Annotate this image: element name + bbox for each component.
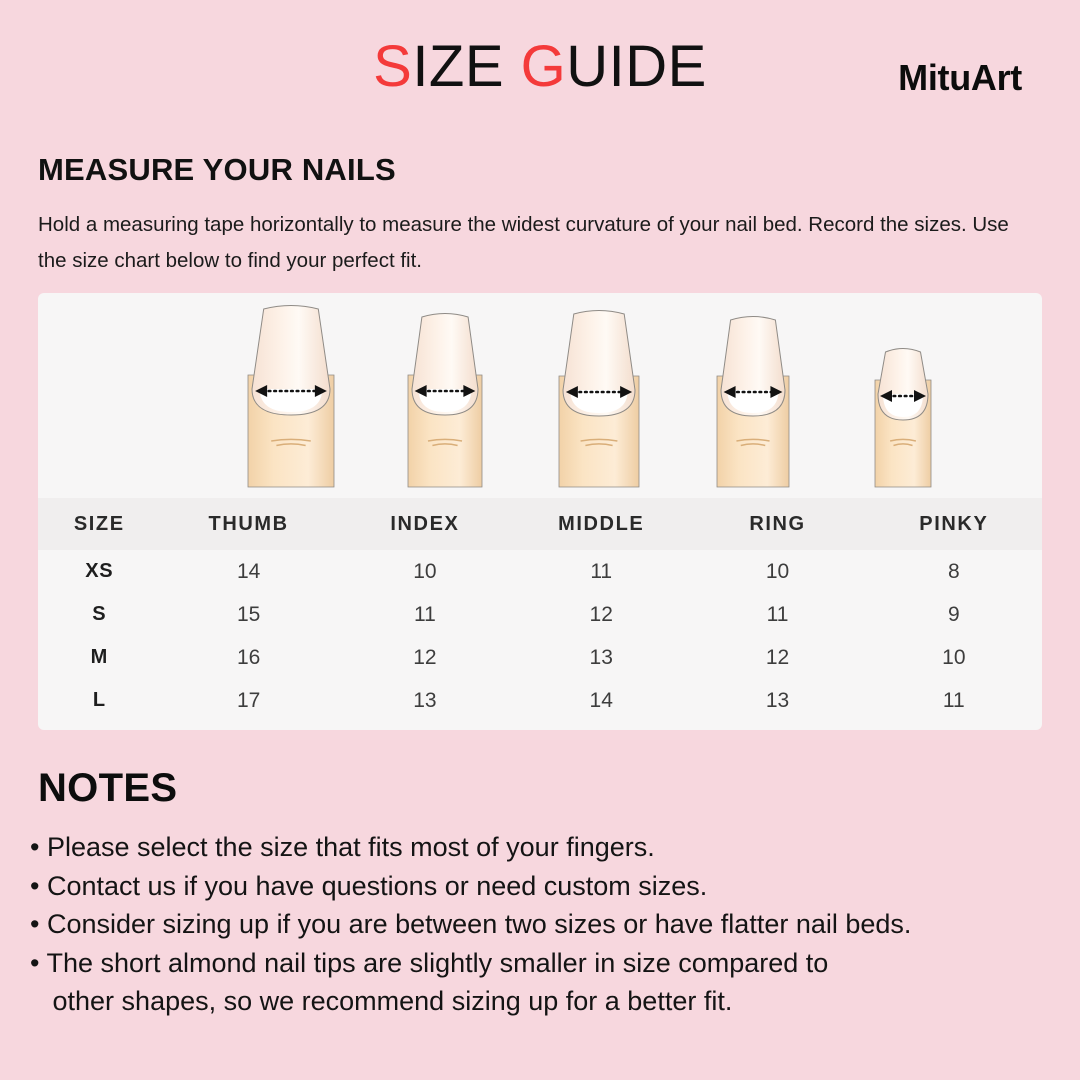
notes-list: • Please select the size that fits most … — [30, 828, 1070, 1021]
size-chart-card: SIZETHUMBINDEXMIDDLERINGPINKY XS14101110… — [38, 293, 1042, 730]
measurement-cell: 10 — [337, 550, 513, 593]
table-column-header-middle: MIDDLE — [513, 498, 689, 550]
measurement-cell: 15 — [160, 593, 336, 636]
table-header-row: SIZETHUMBINDEXMIDDLERINGPINKY — [38, 498, 1042, 550]
thumb-nail-illustration — [241, 293, 341, 498]
measurement-cell: 12 — [689, 636, 865, 679]
note-item: • Contact us if you have questions or ne… — [30, 867, 1070, 906]
index-nail-illustration — [401, 293, 489, 498]
measurement-cell: 10 — [689, 550, 865, 593]
measurement-cell: 13 — [689, 679, 865, 722]
measure-section-heading: MEASURE YOUR NAILS — [38, 152, 396, 188]
table-row: L1713141311 — [38, 679, 1042, 722]
size-label-cell: S — [38, 593, 160, 636]
notes-heading: NOTES — [38, 766, 177, 811]
measurement-cell: 13 — [337, 679, 513, 722]
measurement-cell: 16 — [160, 636, 336, 679]
table-column-header-pinky: PINKY — [866, 498, 1042, 550]
size-label-cell: M — [38, 636, 160, 679]
table-body: XS141011108S151112119M1612131210L1713141… — [38, 550, 1042, 722]
size-label-cell: XS — [38, 550, 160, 593]
measurement-cell: 14 — [513, 679, 689, 722]
table-header: SIZETHUMBINDEXMIDDLERINGPINKY — [38, 498, 1042, 550]
page-header: SIZE GUIDE MituArt — [0, 0, 1080, 128]
size-label-cell: L — [38, 679, 160, 722]
table-row: XS141011108 — [38, 550, 1042, 593]
note-item: • Please select the size that fits most … — [30, 828, 1070, 867]
pinky-nail-illustration — [868, 293, 938, 498]
measurement-cell: 12 — [337, 636, 513, 679]
measurement-cell: 9 — [866, 593, 1042, 636]
measurement-cell: 13 — [513, 636, 689, 679]
title-letters: IZE — [412, 34, 520, 99]
measurement-cell: 14 — [160, 550, 336, 593]
measurement-cell: 11 — [866, 679, 1042, 722]
measure-section-paragraph: Hold a measuring tape horizontally to me… — [38, 207, 1038, 279]
table-column-header-thumb: THUMB — [160, 498, 336, 550]
title-accent-letter: G — [521, 34, 567, 99]
table-row: S151112119 — [38, 593, 1042, 636]
brand-logo: MituArt — [898, 57, 1022, 99]
table-column-header-index: INDEX — [337, 498, 513, 550]
note-item: other shapes, so we recommend sizing up … — [30, 982, 1070, 1021]
measurement-cell: 11 — [337, 593, 513, 636]
note-item: • Consider sizing up if you are between … — [30, 905, 1070, 944]
measurement-cell: 17 — [160, 679, 336, 722]
ring-nail-illustration — [710, 293, 796, 498]
note-item: • The short almond nail tips are slightl… — [30, 944, 1070, 983]
table-column-header-ring: RING — [689, 498, 865, 550]
measurement-cell: 10 — [866, 636, 1042, 679]
title-accent-letter: S — [373, 34, 412, 99]
measurement-cell: 11 — [513, 550, 689, 593]
size-chart-table: SIZETHUMBINDEXMIDDLERINGPINKY XS14101110… — [38, 498, 1042, 722]
measurement-cell: 11 — [689, 593, 865, 636]
measurement-cell: 12 — [513, 593, 689, 636]
middle-nail-illustration — [552, 293, 646, 498]
measurement-cell: 8 — [866, 550, 1042, 593]
table-row: M1612131210 — [38, 636, 1042, 679]
table-column-header-size: SIZE — [38, 498, 160, 550]
title-letters: UIDE — [566, 34, 707, 99]
nail-illustration-row — [38, 293, 1042, 498]
